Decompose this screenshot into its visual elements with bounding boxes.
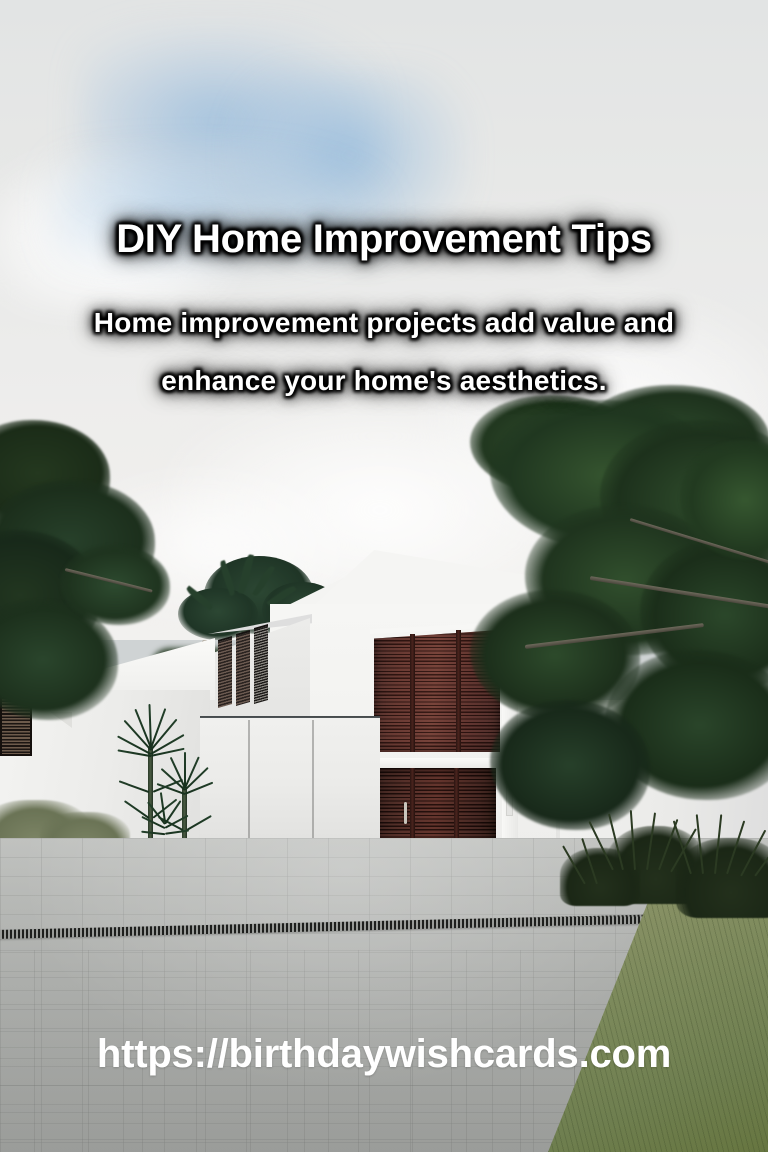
louver-window bbox=[218, 636, 232, 708]
house-pier bbox=[502, 626, 518, 868]
pinterest-style-poster: DIY Home Improvement Tips Home improveme… bbox=[0, 0, 768, 1152]
poster-subtitle: Home improvement projects add value and … bbox=[64, 294, 704, 410]
ornamental-grass-clump bbox=[560, 848, 640, 906]
wall-seam bbox=[312, 720, 314, 838]
louver-window bbox=[236, 630, 250, 706]
wall-seam bbox=[248, 720, 250, 838]
poster-title: DIY Home Improvement Tips bbox=[0, 219, 768, 259]
wall-plate bbox=[506, 780, 513, 816]
wood-mullion bbox=[410, 634, 415, 752]
tree-foliage bbox=[530, 435, 730, 545]
wood-mullion bbox=[456, 630, 461, 752]
wood-louver-panel bbox=[374, 630, 500, 752]
website-url[interactable]: https://birthdaywishcards.com bbox=[0, 1032, 768, 1077]
louver-window bbox=[254, 624, 268, 704]
tree-right-canopy-top bbox=[470, 395, 768, 535]
door-handle[interactable] bbox=[404, 802, 407, 824]
